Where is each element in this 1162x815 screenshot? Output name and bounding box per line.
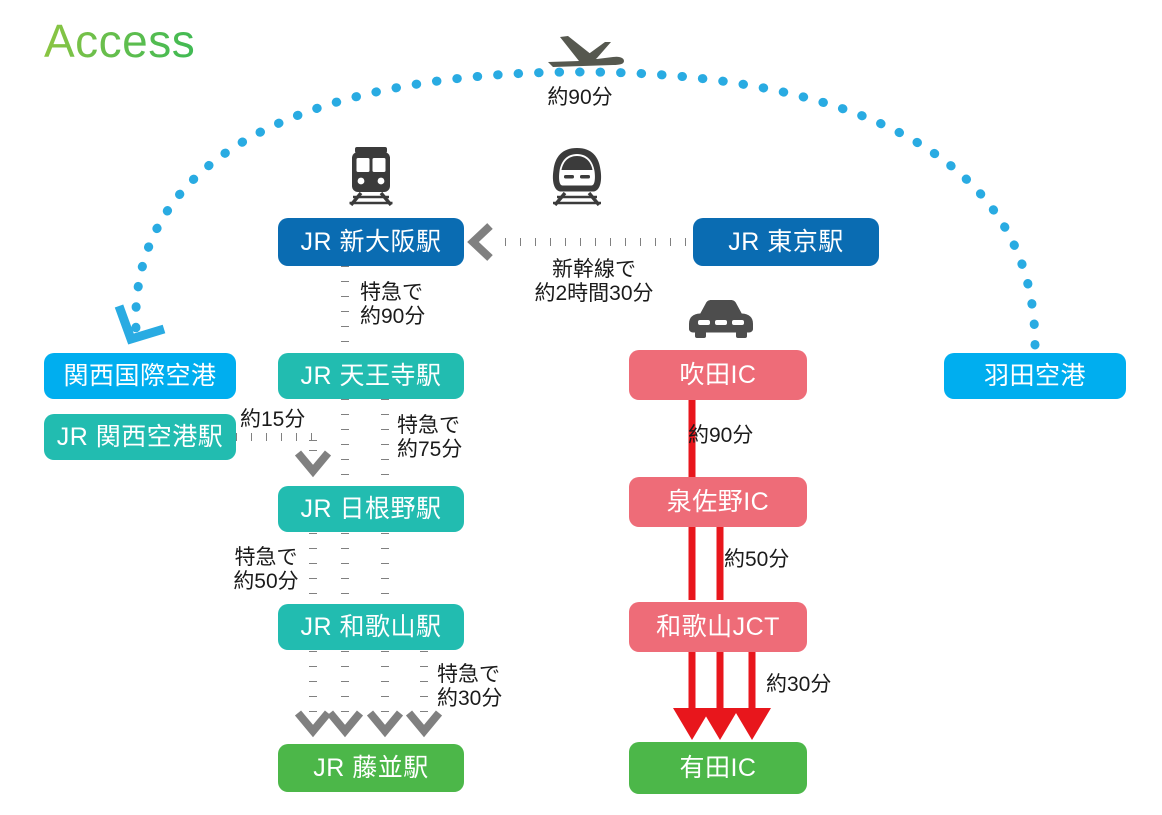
node-jr-kansai-airport-station[interactable]: JR 関西空港駅 [44,414,236,460]
node-suita-ic[interactable]: 吹田IC [629,350,807,400]
node-wakayama-jct[interactable]: 和歌山JCT [629,602,807,652]
node-label: JR 天王寺駅 [300,364,441,389]
edge-label-hineno-wakayama: 特急で 約50分 [222,546,310,595]
node-label: JR 日根野駅 [300,497,441,522]
node-label: 有田IC [679,756,756,781]
arrowhead-hineno-kix [298,453,328,471]
edge-label-shinkansen: 新幹線で 約2時間30分 [503,258,685,307]
node-jr-fujinami-station[interactable]: JR 藤並駅 [278,744,464,792]
node-label: 和歌山JCT [656,615,780,640]
arrowhead-fujinami-a [298,713,328,731]
node-izumisano-ic[interactable]: 泉佐野IC [629,477,807,527]
shinkansen-icon [548,146,606,206]
arrowhead-arida-2 [701,708,739,740]
edge-label-tennoji-hineno: 特急で 約75分 [397,414,517,463]
node-kansai-international-airport[interactable]: 関西国際空港 [44,353,236,399]
node-label: JR 新大阪駅 [300,230,441,255]
edge-label-shinosaka-tennoji: 特急で 約90分 [360,281,480,330]
local-train-icon [347,146,395,206]
edge-label-jct-arida: 約30分 [766,673,876,697]
node-haneda-airport[interactable]: 羽田空港 [944,353,1126,399]
node-label: 関西国際空港 [63,364,216,389]
node-arida-ic[interactable]: 有田IC [629,742,807,794]
node-jr-tennoji-station[interactable]: JR 天王寺駅 [278,353,464,399]
arrowhead-fujinami-c [370,713,400,731]
airplane-icon [545,28,625,70]
node-tokyo-station[interactable]: JR 東京駅 [693,218,879,266]
node-jr-wakayama-station[interactable]: JR 和歌山駅 [278,604,464,650]
connector-layer [0,0,1162,815]
node-label: 羽田空港 [984,364,1086,389]
node-shin-osaka-station[interactable]: JR 新大阪駅 [278,218,464,266]
node-label: JR 和歌山駅 [300,615,441,640]
air-route-arrowhead [119,306,164,339]
edge-label-wakayama-fujinami: 特急で 約30分 [437,663,557,712]
node-label: JR 藤並駅 [313,756,429,781]
car-icon [688,298,754,340]
edge-label-kix-hineno: 約15分 [240,408,350,432]
arrowhead-arida-3 [733,708,771,740]
node-label: JR 東京駅 [728,230,844,255]
arrowhead-fujinami-d [409,713,439,731]
edge-label-suita-izumisano: 約90分 [688,424,798,448]
arrowhead-fujinami-b [330,713,360,731]
edge-label-izumisano-jct: 約50分 [724,548,834,572]
edge-label-air-route: 約90分 [500,86,660,110]
shinkansen-arrowhead [473,226,490,258]
node-jr-hineno-station[interactable]: JR 日根野駅 [278,486,464,532]
node-label: 吹田IC [679,363,756,388]
node-label: JR 関西空港駅 [57,425,224,450]
node-label: 泉佐野IC [667,490,770,515]
access-diagram: Access [0,0,1162,815]
